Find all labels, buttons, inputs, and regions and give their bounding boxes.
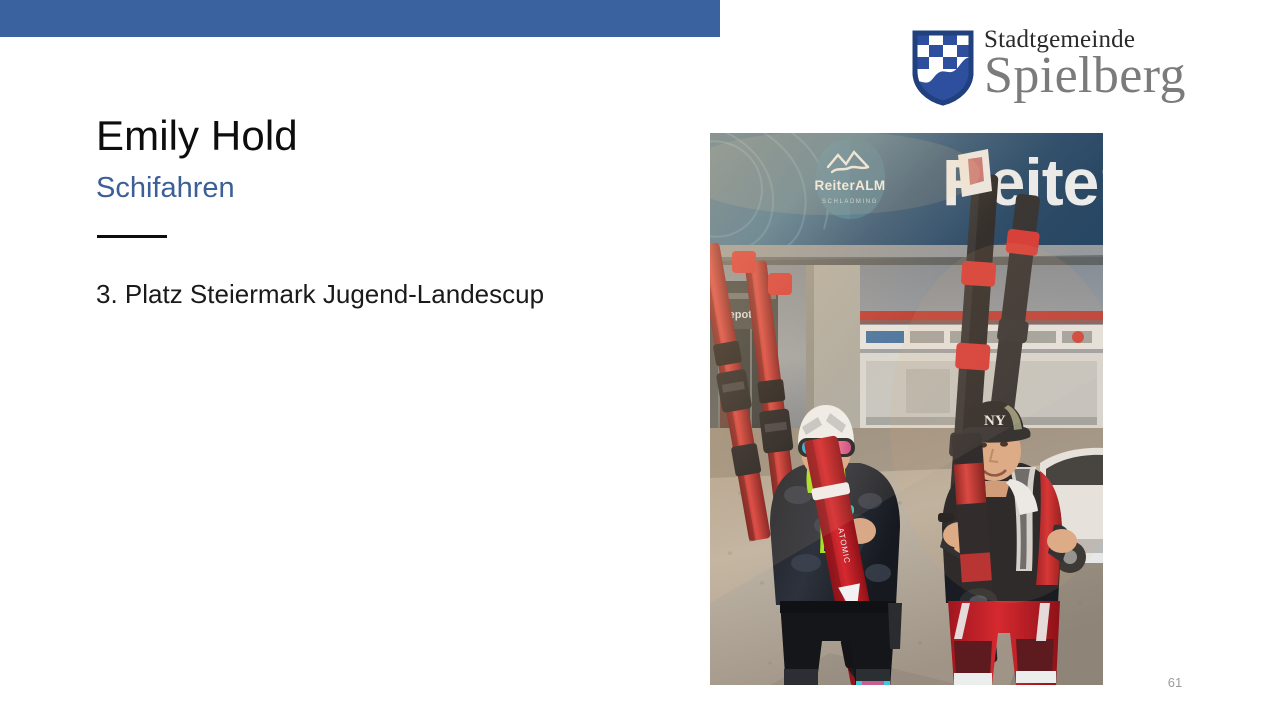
slide: Stadtgemeinde Spielberg Emily Hold Schif… <box>0 0 1280 720</box>
coat-of-arms-shield-icon <box>912 30 974 106</box>
page-title: Emily Hold <box>96 111 298 161</box>
logo-line-spielberg: Spielberg <box>984 49 1189 103</box>
skiers-photo: ReiterALM SCHLADMING Reiter i-Depot <box>710 133 1103 685</box>
accent-bar <box>0 0 720 37</box>
title-divider <box>97 235 167 238</box>
logo-wordmark: Stadtgemeinde Spielberg <box>984 26 1189 103</box>
stadtgemeinde-spielberg-logo: Stadtgemeinde Spielberg <box>912 28 1187 108</box>
achievement-text: 3. Platz Steiermark Jugend-Landescup <box>96 277 544 311</box>
page-subtitle: Schifahren <box>96 170 235 206</box>
slide-number: 61 <box>1155 675 1195 690</box>
